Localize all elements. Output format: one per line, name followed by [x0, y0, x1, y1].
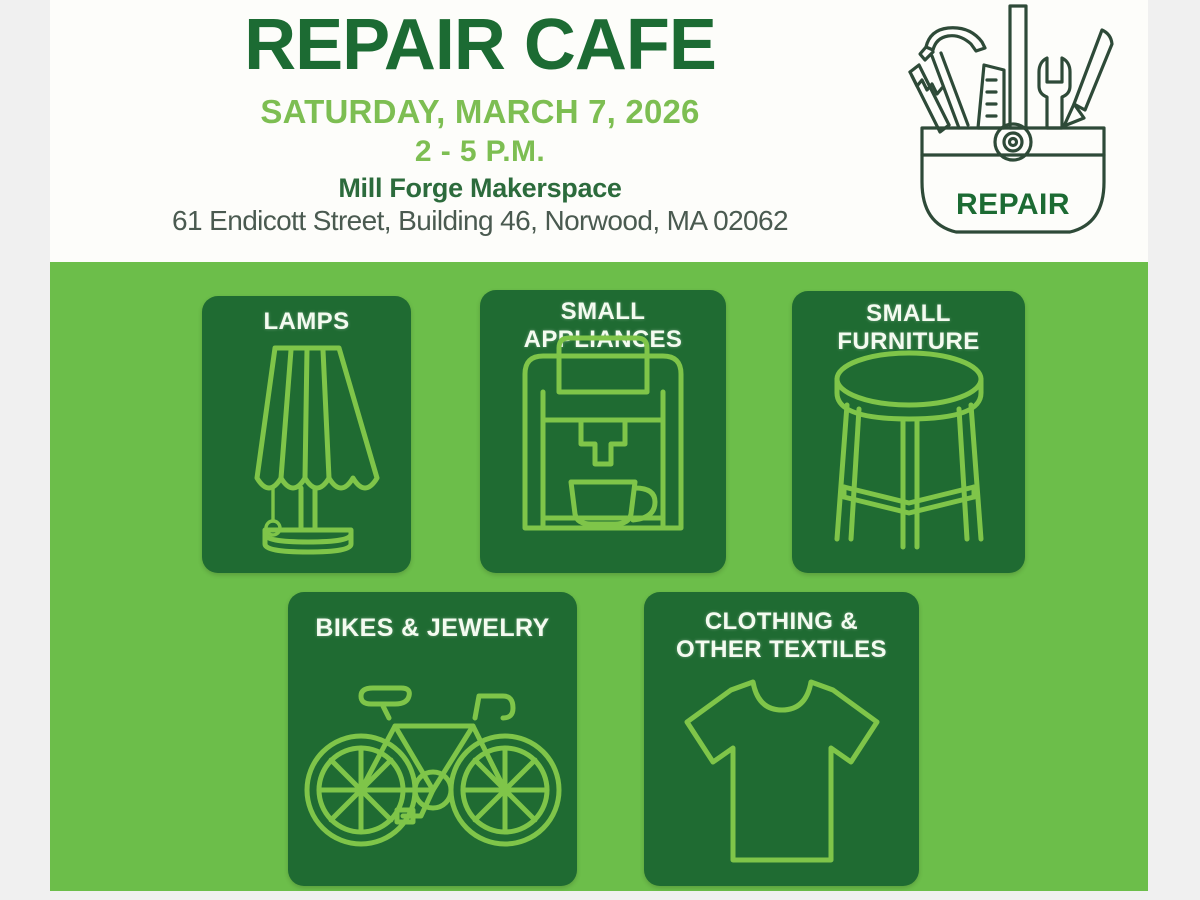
category-card-lamps[interactable]: LAMPS	[202, 296, 411, 573]
category-card-clothing-textiles[interactable]: CLOTHING & OTHER TEXTILES	[644, 592, 919, 886]
ruler-icon	[978, 65, 1004, 128]
category-card-label: LAMPS	[202, 308, 411, 336]
event-time: 2 - 5 P.M.	[50, 130, 910, 168]
category-card-small-appliances[interactable]: SMALL APPLIANCES	[480, 290, 726, 573]
event-address: 61 Endicott Street, Building 46, Norwood…	[50, 202, 910, 235]
prybar-icon	[1010, 6, 1026, 128]
category-card-small-furniture[interactable]: SMALL FURNITURE	[792, 291, 1025, 573]
table-lamp-icon	[202, 338, 411, 563]
toolbox-icon: REPAIR	[886, 2, 1140, 258]
category-card-bikes-jewelry[interactable]: BIKES & JEWELRY	[288, 592, 577, 886]
wrench-icon	[1039, 58, 1070, 128]
tshirt-icon	[644, 670, 919, 870]
poster: REPAIR CAFE SATURDAY, MARCH 7, 2026 2 - …	[50, 0, 1148, 891]
page-title: REPAIR CAFE	[50, 0, 910, 83]
category-card-label: CLOTHING & OTHER TEXTILES	[644, 608, 919, 663]
stool-icon	[792, 347, 1025, 562]
poster-header: REPAIR CAFE SATURDAY, MARCH 7, 2026 2 - …	[50, 0, 1148, 262]
header-text-block: REPAIR CAFE SATURDAY, MARCH 7, 2026 2 - …	[50, 0, 910, 236]
event-date: SATURDAY, MARCH 7, 2026	[50, 83, 910, 130]
bicycle-icon	[288, 670, 577, 860]
category-card-label: BIKES & JEWELRY	[288, 614, 577, 643]
repair-toolbox-logo: REPAIR	[886, 2, 1140, 258]
logo-wordmark: REPAIR	[956, 188, 1070, 221]
handsaw-icon	[910, 65, 949, 132]
event-venue: Mill Forge Makerspace	[50, 167, 910, 202]
coffee-machine-icon	[480, 332, 726, 562]
